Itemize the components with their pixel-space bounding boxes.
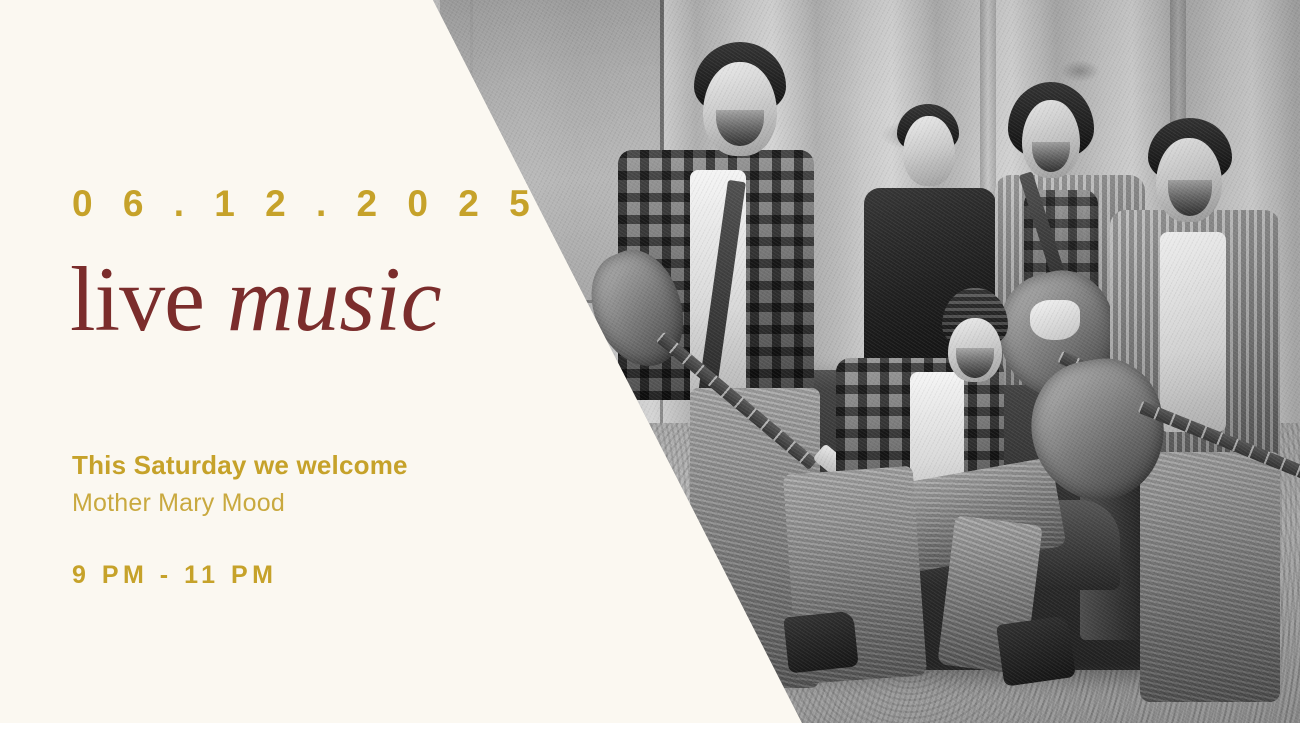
head: [903, 116, 955, 186]
white-tee: [1160, 232, 1226, 432]
headline-word-music: music: [227, 248, 442, 350]
wall-smudge: [1060, 60, 1100, 82]
page-title: live music: [70, 253, 442, 345]
guitar-pickguard: [1030, 300, 1080, 340]
event-time: 9 PM - 11 PM: [72, 561, 277, 590]
band-name: Mother Mary Mood: [72, 489, 285, 518]
boot: [783, 610, 858, 673]
welcome-text: This Saturday we welcome: [72, 450, 408, 481]
jeans: [1140, 452, 1280, 702]
headline-word-live: live: [70, 248, 204, 350]
event-poster: 0 6 . 1 2 . 2 0 2 5 live music This Satu…: [0, 0, 1300, 731]
text-column: 0 6 . 1 2 . 2 0 2 5 live music This Satu…: [0, 0, 520, 731]
boot: [996, 615, 1076, 686]
event-date: 0 6 . 1 2 . 2 0 2 5: [72, 183, 540, 225]
